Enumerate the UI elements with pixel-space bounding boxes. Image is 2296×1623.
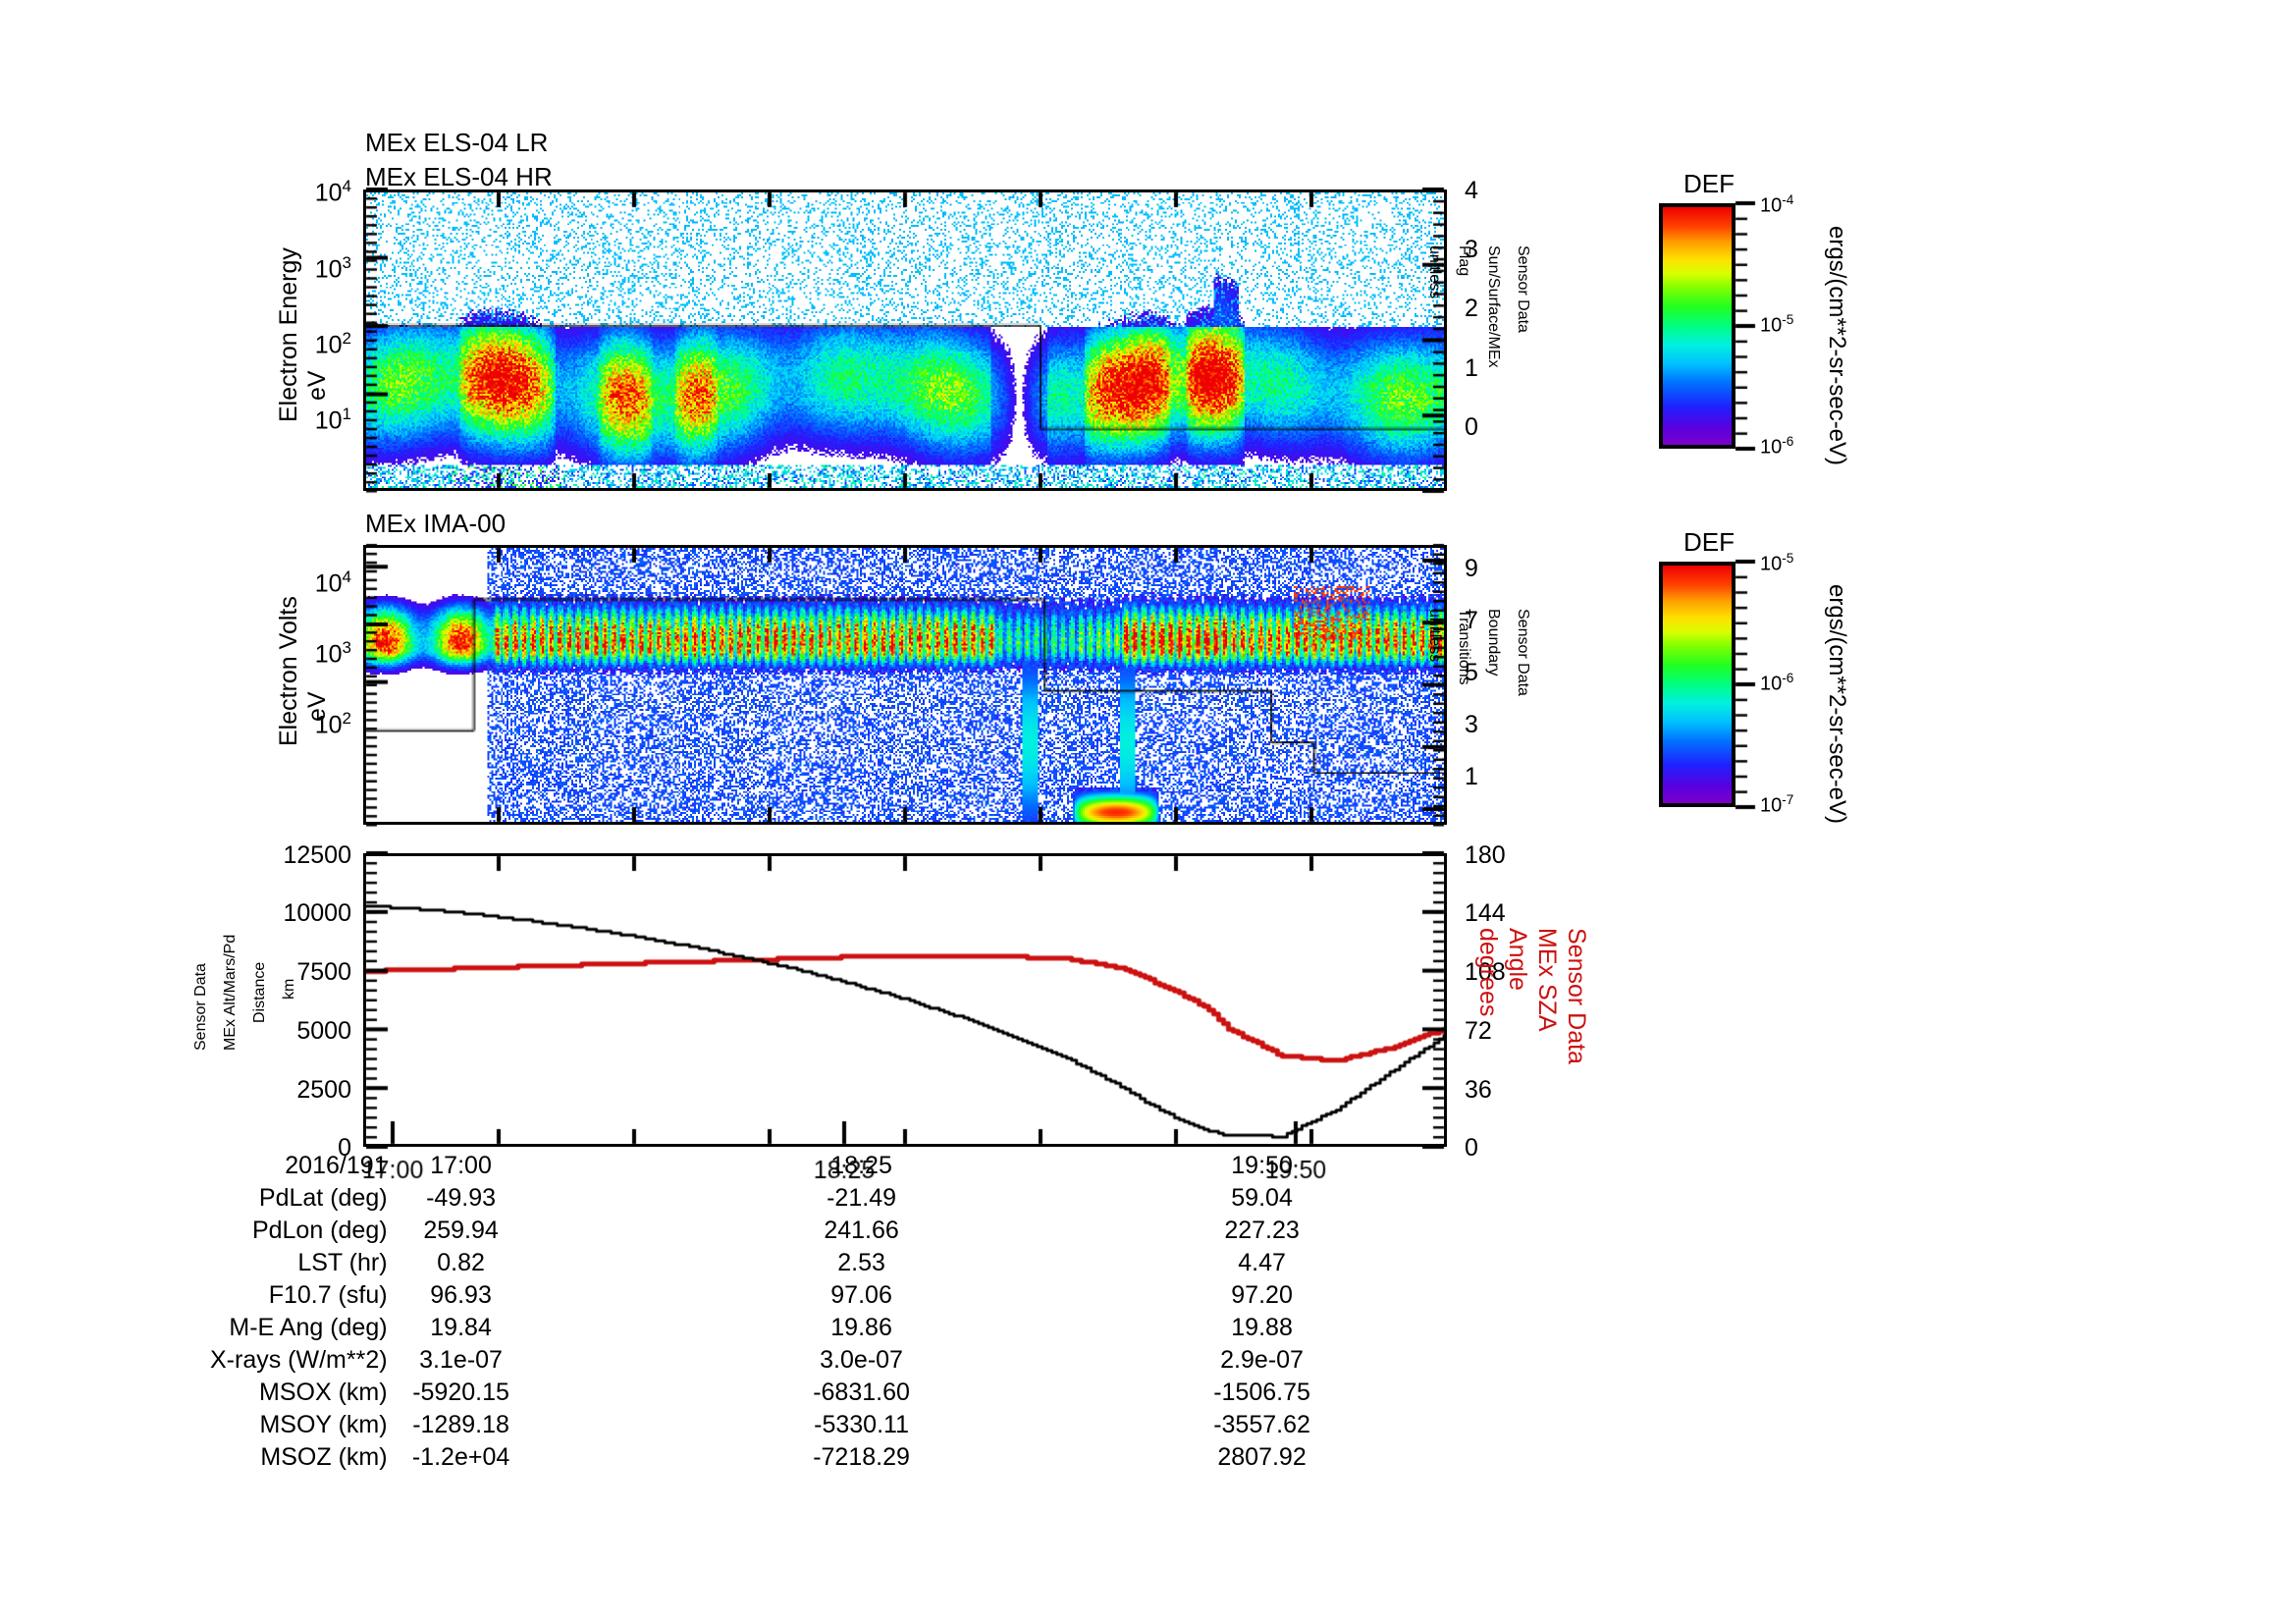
panel1-right-ytick-2: 2: [1465, 295, 1478, 323]
param-label: MSOY (km): [210, 1410, 388, 1442]
panel1-right-axis-l1: Sensor Data: [1515, 245, 1531, 333]
param-value: 19.88: [1189, 1313, 1336, 1345]
param-label: PdLon (deg): [210, 1216, 388, 1248]
panel1-right-axis-l3: Flag: [1456, 245, 1472, 276]
colorbar1-tick-mid: 10-5: [1760, 312, 1793, 338]
param-gap: [935, 1248, 1189, 1280]
param-value: 2.53: [788, 1248, 935, 1280]
param-value: 19.84: [388, 1313, 535, 1345]
param-gap: [535, 1313, 788, 1345]
param-gap: [535, 1345, 788, 1378]
param-label: F10.7 (sfu): [210, 1280, 388, 1313]
param-gap: [535, 1378, 788, 1410]
param-value: 17:00: [388, 1151, 535, 1183]
param-gap: [535, 1248, 788, 1280]
param-value: -49.93: [388, 1183, 535, 1216]
panel3-ytick-10000: 10000: [196, 899, 351, 928]
panel3-right-ytick-36: 36: [1465, 1076, 1492, 1105]
param-label: LST (hr): [210, 1248, 388, 1280]
panel2-right-axis-l2: Boundary: [1485, 609, 1502, 676]
table-row: MSOZ (km)-1.2e+04-7218.292807.92: [210, 1442, 1336, 1475]
panel2-right-axis-l3: Transitions: [1456, 609, 1472, 685]
panel2-right-axis-l1: Sensor Data: [1515, 609, 1531, 696]
param-value: -1506.75: [1189, 1378, 1336, 1410]
param-value: 19.86: [788, 1313, 935, 1345]
param-gap: [535, 1151, 788, 1183]
param-value: 96.93: [388, 1280, 535, 1313]
panel3-ytick-7500: 7500: [196, 958, 351, 987]
param-value: 59.04: [1189, 1183, 1336, 1216]
param-gap: [535, 1442, 788, 1475]
panel1-right-ytick-4: 4: [1465, 177, 1478, 205]
panel3-right-axis-l4: degrees: [1474, 928, 1502, 1016]
param-value: 4.47: [1189, 1248, 1336, 1280]
panel3-right-axis-l1: Sensor Data: [1563, 928, 1590, 1064]
panel3-right-axis-l2: MEx SZA: [1533, 928, 1561, 1032]
param-value: 19:50: [1189, 1151, 1336, 1183]
panel3-right-ytick-180: 180: [1465, 841, 1506, 870]
param-gap: [935, 1378, 1189, 1410]
colorbar1-tick-bot: 10-6: [1760, 434, 1793, 460]
table-row: MSOX (km)-5920.15-6831.60-1506.75: [210, 1378, 1336, 1410]
param-value: 227.23: [1189, 1216, 1336, 1248]
panel1-ytick-1e1: 101: [294, 405, 351, 435]
param-gap: [935, 1280, 1189, 1313]
param-gap: [935, 1151, 1189, 1183]
colorbar1-tick-top: 10-4: [1760, 192, 1793, 218]
colorbar2-tick-bot: 10-7: [1760, 792, 1793, 818]
param-gap: [935, 1313, 1189, 1345]
colorbar2-tick-top: 10-5: [1760, 551, 1793, 576]
table-row: 2016/19117:0018:2519:50: [210, 1151, 1336, 1183]
param-gap: [935, 1410, 1189, 1442]
param-gap: [535, 1410, 788, 1442]
panel2-right-axis-l4: unitless: [1426, 609, 1443, 662]
panel3-right-ytick-72: 72: [1465, 1017, 1492, 1046]
param-gap: [535, 1216, 788, 1248]
param-value: -3557.62: [1189, 1410, 1336, 1442]
panel2-plot-area[interactable]: [363, 545, 1447, 825]
param-gap: [535, 1280, 788, 1313]
param-value: -21.49: [788, 1183, 935, 1216]
panel3-plot-area[interactable]: [363, 853, 1447, 1147]
colorbar2-title: DEF: [1683, 527, 1735, 558]
panel3-right-ytick-144: 144: [1465, 899, 1506, 928]
panel1-ytick-1e4: 104: [294, 177, 351, 207]
panel1-title-hr: MEx ELS-04 HR: [365, 162, 553, 192]
param-value: -5920.15: [388, 1378, 535, 1410]
param-gap: [935, 1216, 1189, 1248]
panel1-plot-area[interactable]: [363, 189, 1447, 491]
panel1-ytick-1e2: 102: [294, 329, 351, 359]
table-row: M-E Ang (deg)19.8419.8619.88: [210, 1313, 1336, 1345]
table-row: LST (hr)0.822.534.47: [210, 1248, 1336, 1280]
panel1-title-lr: MEx ELS-04 LR: [365, 128, 548, 158]
param-label: 2016/191: [210, 1151, 388, 1183]
param-value: -1.2e+04: [388, 1442, 535, 1475]
panel1-right-ytick-1: 1: [1465, 354, 1478, 383]
param-label: MSOX (km): [210, 1378, 388, 1410]
table-row: MSOY (km)-1289.18-5330.11-3557.62: [210, 1410, 1336, 1442]
param-value: -1289.18: [388, 1410, 535, 1442]
param-gap: [935, 1183, 1189, 1216]
panel2-right-ytick-3: 3: [1465, 711, 1478, 739]
param-value: 2.9e-07: [1189, 1345, 1336, 1378]
param-value: 97.06: [788, 1280, 935, 1313]
colorbar2: [1659, 562, 1735, 807]
parameter-table: 2016/19117:0018:2519:50PdLat (deg)-49.93…: [210, 1151, 1336, 1475]
param-label: X-rays (W/m**2): [210, 1345, 388, 1378]
param-value: -6831.60: [788, 1378, 935, 1410]
param-value: 259.94: [388, 1216, 535, 1248]
param-gap: [535, 1183, 788, 1216]
param-gap: [935, 1442, 1189, 1475]
panel2-title: MEx IMA-00: [365, 509, 506, 539]
panel3-ytick-2500: 2500: [196, 1076, 351, 1105]
param-gap: [935, 1345, 1189, 1378]
panel1-left-axis-unit: eV: [303, 370, 331, 401]
param-value: -5330.11: [788, 1410, 935, 1442]
table-row: PdLat (deg)-49.93-21.4959.04: [210, 1183, 1336, 1216]
panel1-right-ytick-0: 0: [1465, 413, 1478, 442]
panel3-right-ytick-0: 0: [1465, 1134, 1478, 1163]
param-value: 2807.92: [1189, 1442, 1336, 1475]
panel3-ytick-12500: 12500: [196, 841, 351, 870]
param-value: 3.1e-07: [388, 1345, 535, 1378]
param-value: 0.82: [388, 1248, 535, 1280]
panel2-ytick-1e3: 103: [294, 638, 351, 669]
param-label: M-E Ang (deg): [210, 1313, 388, 1345]
panel2-right-ytick-1: 1: [1465, 763, 1478, 791]
colorbar1: [1659, 203, 1735, 449]
colorbar1-title: DEF: [1683, 169, 1735, 199]
param-value: 3.0e-07: [788, 1345, 935, 1378]
panel2-ytick-1e2: 102: [294, 709, 351, 739]
panel3-ytick-5000: 5000: [196, 1017, 351, 1046]
param-label: MSOZ (km): [210, 1442, 388, 1475]
panel3-right-axis-l3: Angle: [1504, 928, 1531, 991]
table-row: F10.7 (sfu)96.9397.0697.20: [210, 1280, 1336, 1313]
table-row: X-rays (W/m**2)3.1e-073.0e-072.9e-07: [210, 1345, 1336, 1378]
param-value: 18:25: [788, 1151, 935, 1183]
colorbar2-tick-mid: 10-6: [1760, 671, 1793, 696]
param-value: 241.66: [788, 1216, 935, 1248]
param-value: 97.20: [1189, 1280, 1336, 1313]
table-row: PdLon (deg)259.94241.66227.23: [210, 1216, 1336, 1248]
panel2-ytick-1e4: 104: [294, 568, 351, 598]
param-value: -7218.29: [788, 1442, 935, 1475]
panel2-right-ytick-9: 9: [1465, 555, 1478, 583]
panel1-ytick-1e3: 103: [294, 253, 351, 284]
panel1-right-axis-l4: unitless: [1426, 245, 1443, 298]
panel1-right-axis-l2: Sun/Surface/MEx: [1485, 245, 1502, 368]
param-label: PdLat (deg): [210, 1183, 388, 1216]
